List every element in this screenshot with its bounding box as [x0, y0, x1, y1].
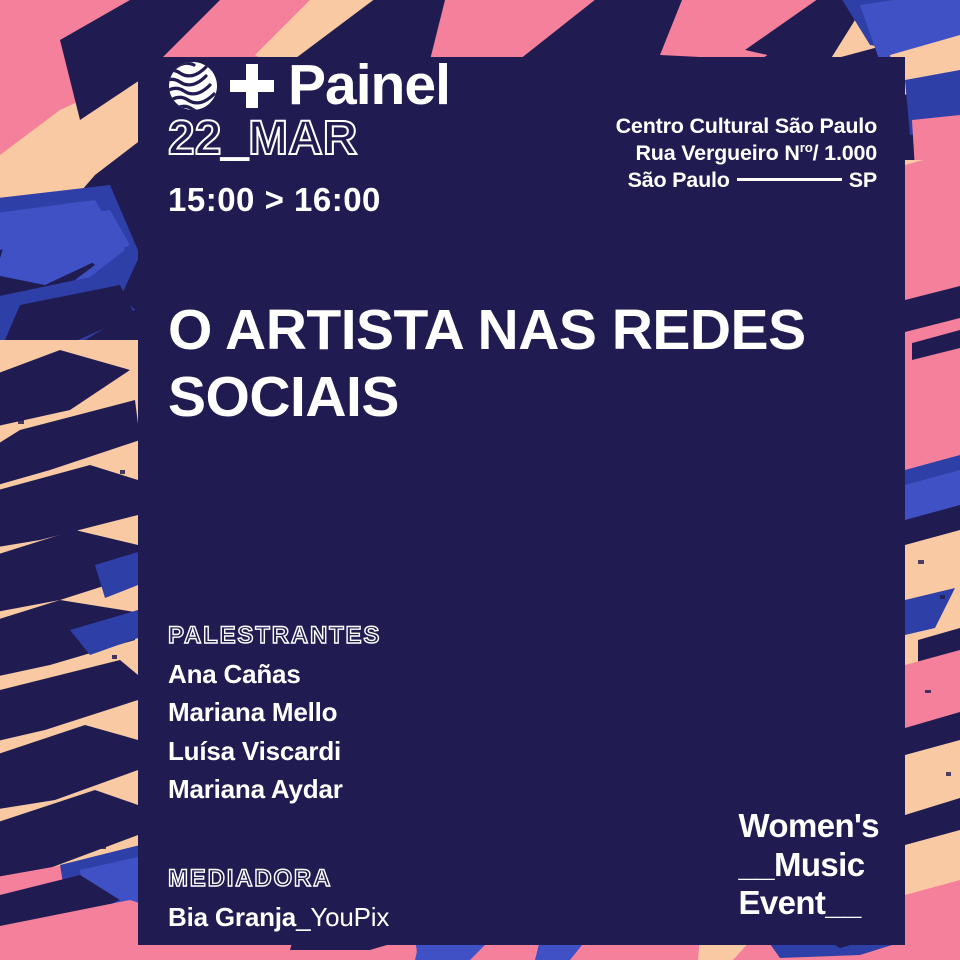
speaker-name: Ana Cañas [168, 655, 381, 693]
brand-header: Painel [168, 57, 450, 114]
plus-icon [228, 62, 276, 110]
mediator-name: Bia Granja_YouPix [168, 898, 389, 936]
event-time: 15:00 > 16:00 [168, 183, 381, 216]
page-title: O ARTISTA NAS REDES SOCIAIS [168, 297, 868, 430]
venue-address: Rua Vergueiro Nro/ 1.000 [616, 140, 877, 167]
event-logo: Women's __Music Event__ [738, 807, 879, 923]
event-poster: Painel 22_MAR 15:00 > 16:00 Centro Cultu… [0, 0, 960, 960]
venue-block: Centro Cultural São Paulo Rua Vergueiro … [616, 113, 877, 194]
venue-name: Centro Cultural São Paulo [616, 113, 877, 140]
mediator-affiliation: _YouPix [296, 902, 389, 932]
speakers-label: PALESTRANTES [168, 622, 381, 651]
divider-rule [737, 178, 842, 181]
brand-word: Painel [288, 57, 450, 114]
event-logo-line-1: Women's [738, 807, 879, 846]
striped-circle-icon [168, 61, 218, 111]
speaker-name: Luísa Viscardi [168, 732, 381, 770]
mediator-label: MEDIADORA [168, 865, 389, 894]
venue-city-state: São PauloSP [616, 167, 877, 194]
mediator-block: MEDIADORA Bia Granja_YouPix [168, 865, 389, 936]
speaker-name: Mariana Aydar [168, 770, 381, 808]
event-logo-line-2: __Music [738, 846, 879, 885]
event-logo-line-3: Event__ [738, 884, 879, 923]
speaker-name: Mariana Mello [168, 693, 381, 731]
content-panel: Painel 22_MAR 15:00 > 16:00 Centro Cultu… [138, 57, 905, 945]
event-date: 22_MAR [168, 115, 357, 163]
speakers-block: PALESTRANTES Ana Cañas Mariana Mello Luí… [168, 622, 381, 809]
